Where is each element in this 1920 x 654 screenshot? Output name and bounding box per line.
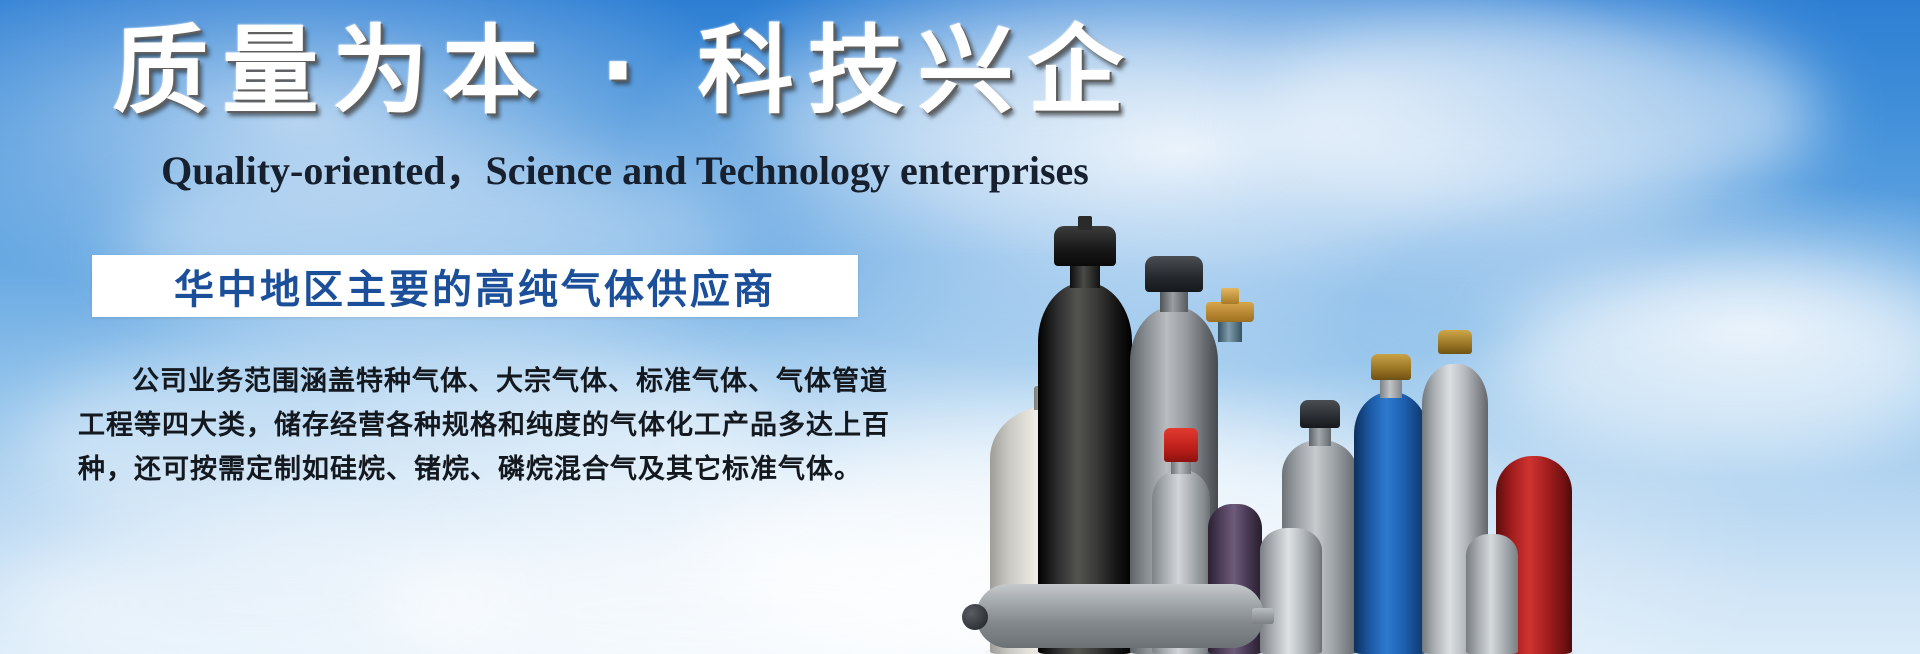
horizontal-grey-tank	[976, 584, 1264, 648]
small-grey-cylinder	[1466, 534, 1518, 654]
gas-cylinders-photo	[930, 150, 1920, 654]
description-paragraph: 公司业务范围涵盖特种气体、大宗气体、标准气体、气体管道 工程等四大类，储存经营各…	[78, 360, 868, 492]
paragraph-line-2: 工程等四大类，储存经营各种规格和纯度的气体化工产品多达上百	[78, 404, 868, 448]
slogan-text: 华中地区主要的高纯气体供应商	[174, 257, 776, 315]
blue-cylinder	[1354, 392, 1428, 654]
promo-banner: 质量为本 · 科技兴企 Quality-oriented，Science and…	[0, 0, 1920, 654]
headline-text: 质量为本 · 科技兴企	[0, 18, 1250, 126]
slogan-box: 华中地区主要的高纯气体供应商	[92, 255, 858, 317]
cloud-decoration	[0, 520, 520, 654]
small-aluminium-cylinder	[1260, 528, 1322, 654]
paragraph-line-1: 公司业务范围涵盖特种气体、大宗气体、标准气体、气体管道	[78, 360, 868, 404]
paragraph-line-3: 种，还可按需定制如硅烷、锗烷、磷烷混合气及其它标准气体。	[78, 448, 868, 492]
